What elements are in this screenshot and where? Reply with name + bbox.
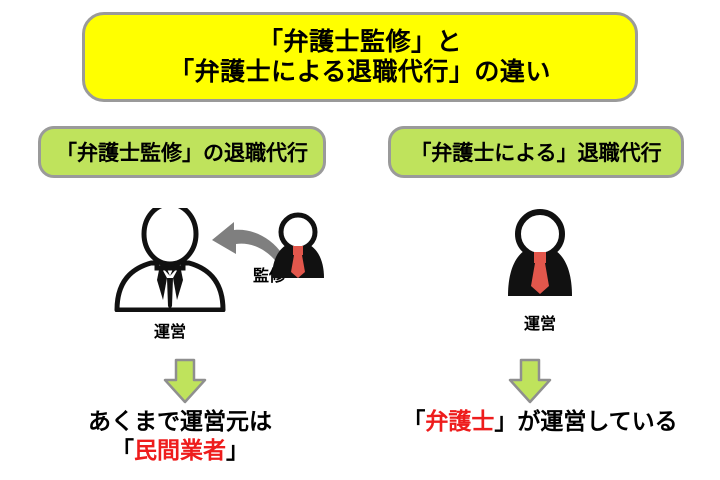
down-arrow-by-lawyer <box>508 358 552 408</box>
figure-operator-caption: 運営 <box>105 318 235 342</box>
conclusion-supervised-line-2: 「民間業者」 <box>0 437 360 466</box>
close-bracket: 」 <box>226 438 249 464</box>
figure-lawyer-operator: 運営 <box>498 208 582 334</box>
figure-area-by-lawyer: 運営 <box>360 186 720 346</box>
highlight-bengoshi: 弁護士 <box>425 409 494 435</box>
open-bracket: 「 <box>111 438 134 464</box>
conclusion-supervised: あくまで運営元は 「民間業者」 <box>0 408 360 466</box>
open-bracket: 「 <box>402 409 425 435</box>
figure-area-supervised: 運営 監修 <box>0 186 360 346</box>
conclusion-supervised-line-1: あくまで運営元は <box>0 408 360 437</box>
highlight-minkan-gyousha: 民間業者 <box>134 438 226 464</box>
title-line-2: 「弁護士による退職代行」の違い <box>169 57 551 88</box>
title-line-1: 「弁護士監修」と <box>258 27 462 58</box>
down-arrow-supervised <box>163 358 207 408</box>
lawyer-operator-icon <box>498 208 582 304</box>
lawyer-small-icon <box>262 212 334 284</box>
panel-header-by-lawyer: 「弁護士による」退職代行 <box>388 126 684 178</box>
panel-header-supervised-label: 「弁護士監修」の退職代行 <box>56 137 308 167</box>
panel-header-by-lawyer-label: 「弁護士による」退職代行 <box>410 137 661 167</box>
conclusion-tail: が運営している <box>517 409 677 435</box>
conclusion-by-lawyer: 「弁護士」が運営している <box>360 408 720 437</box>
panel-header-supervised: 「弁護士監修」の退職代行 <box>38 126 326 178</box>
down-arrow-icon <box>163 358 207 404</box>
title-banner: 「弁護士監修」と 「弁護士による退職代行」の違い <box>82 12 638 102</box>
panel-by-lawyer: 「弁護士による」退職代行 運営 「弁護士」が運営している <box>360 126 720 480</box>
figure-lawyer-small <box>262 212 334 288</box>
down-arrow-icon <box>508 358 552 404</box>
close-bracket: 」 <box>494 409 517 435</box>
conclusion-by-lawyer-line-1: 「弁護士」が運営している <box>360 408 720 437</box>
panel-supervised: 「弁護士監修」の退職代行 運営 <box>0 126 360 480</box>
figure-lawyer-operator-caption: 運営 <box>498 310 582 334</box>
